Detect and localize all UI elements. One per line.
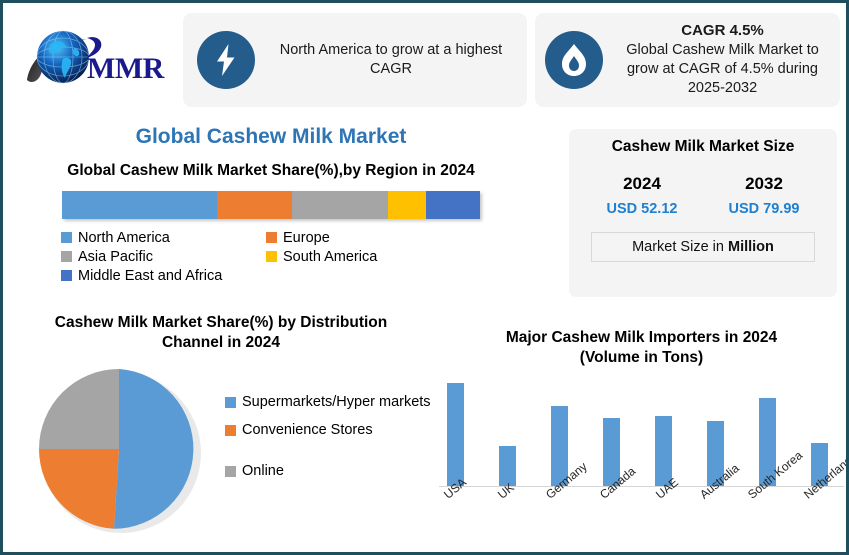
importers-title-line1: Major Cashew Milk Importers in 2024 <box>439 328 844 348</box>
legend-label: Asia Pacific <box>78 249 153 265</box>
market-size-panel: Cashew Milk Market Size 2024 USD 52.12 2… <box>569 129 837 297</box>
importers-chart-title: Major Cashew Milk Importers in 2024 (Vol… <box>439 328 844 368</box>
region-stacked-bar <box>62 191 480 219</box>
legend-swatch-icon <box>61 251 72 262</box>
highlight-card-north-america: North America to grow at a highest CAGR <box>183 13 527 107</box>
highlight-card-cagr: CAGR 4.5% Global Cashew Milk Market to g… <box>535 13 840 107</box>
legend-swatch-icon <box>61 270 72 281</box>
logo-wordmark: MMR <box>87 52 164 86</box>
market-size-year-2032: 2032 USD 79.99 <box>703 174 825 217</box>
legend-item-convenience-stores: Convenience Stores <box>225 421 431 439</box>
legend-label: Online <box>242 462 284 480</box>
year-value: USD 52.12 <box>581 201 703 217</box>
legend-swatch-icon <box>225 466 236 477</box>
distribution-channel-chart: Cashew Milk Market Share(%) by Distribut… <box>11 313 431 538</box>
market-unit-prefix: Market Size in <box>632 239 728 255</box>
market-size-title: Cashew Milk Market Size <box>581 138 825 156</box>
region-segment-europe <box>217 191 292 219</box>
flame-icon <box>545 31 603 89</box>
region-legend: North America Europe Asia Pacific South … <box>61 230 481 284</box>
market-size-unit: Market Size in Million <box>591 232 815 262</box>
year-label: 2032 <box>703 174 825 194</box>
pie-slice-online <box>39 369 119 449</box>
legend-item-supermarkets: Supermarkets/Hyper markets <box>225 393 431 411</box>
legend-swatch-icon <box>266 232 277 243</box>
lightning-bolt-icon <box>197 31 255 89</box>
legend-item-europe: Europe <box>266 230 481 246</box>
region-segment-middle-east-africa <box>426 191 480 219</box>
mmr-logo: MMR <box>17 17 175 103</box>
legend-swatch-icon <box>266 251 277 262</box>
region-segment-north-america <box>62 191 217 219</box>
importers-axis-labels: USA UK Germany Canada UAE Australia Sout… <box>439 487 844 555</box>
legend-label: North America <box>78 230 170 246</box>
region-share-chart: Global Cashew Milk Market Share(%),by Re… <box>11 161 531 284</box>
region-segment-south-america <box>388 191 426 219</box>
market-size-years: 2024 USD 52.12 2032 USD 79.99 <box>581 174 825 217</box>
pie-legend: Supermarkets/Hyper markets Convenience S… <box>225 393 431 489</box>
region-segment-asia-pacific <box>292 191 388 219</box>
legend-item-asia-pacific: Asia Pacific <box>61 249 266 265</box>
region-chart-title: Global Cashew Milk Market Share(%),by Re… <box>11 161 531 181</box>
year-value: USD 79.99 <box>703 201 825 217</box>
legend-item-middle-east-africa: Middle East and Africa <box>61 268 266 284</box>
legend-item-south-america: South America <box>266 249 481 265</box>
legend-label: Supermarkets/Hyper markets <box>242 393 431 411</box>
legend-label: South America <box>283 249 377 265</box>
legend-item-online: Online <box>225 462 431 480</box>
legend-swatch-icon <box>225 397 236 408</box>
highlight-card-2-text: CAGR 4.5% Global Cashew Milk Market to g… <box>613 21 832 98</box>
page-title: Global Cashew Milk Market <box>11 125 531 149</box>
header-band: MMR North America to grow at a highest C… <box>3 3 849 118</box>
legend-swatch-icon <box>61 232 72 243</box>
importers-title-line2: (Volume in Tons) <box>439 348 844 368</box>
legend-item-north-america: North America <box>61 230 266 246</box>
market-size-year-2024: 2024 USD 52.12 <box>581 174 703 217</box>
legend-swatch-icon <box>225 425 236 436</box>
market-unit-value: Million <box>728 239 774 255</box>
highlight-card-1-text: North America to grow at a highest CAGR <box>265 41 517 79</box>
importers-chart: Major Cashew Milk Importers in 2024 (Vol… <box>439 328 844 553</box>
cagr-heading: CAGR 4.5% <box>613 21 832 41</box>
infographic-canvas: MMR North America to grow at a highest C… <box>0 0 849 555</box>
pie-chart-graphic <box>33 361 219 538</box>
pie-slice-convenience-stores <box>39 449 119 529</box>
cagr-description: Global Cashew Milk Market to grow at CAG… <box>626 42 819 96</box>
legend-label: Convenience Stores <box>242 421 373 439</box>
year-label: 2024 <box>581 174 703 194</box>
pie-chart-title: Cashew Milk Market Share(%) by Distribut… <box>11 313 431 353</box>
legend-label: Middle East and Africa <box>78 268 222 284</box>
legend-label: Europe <box>283 230 330 246</box>
bar-usa <box>447 383 464 486</box>
